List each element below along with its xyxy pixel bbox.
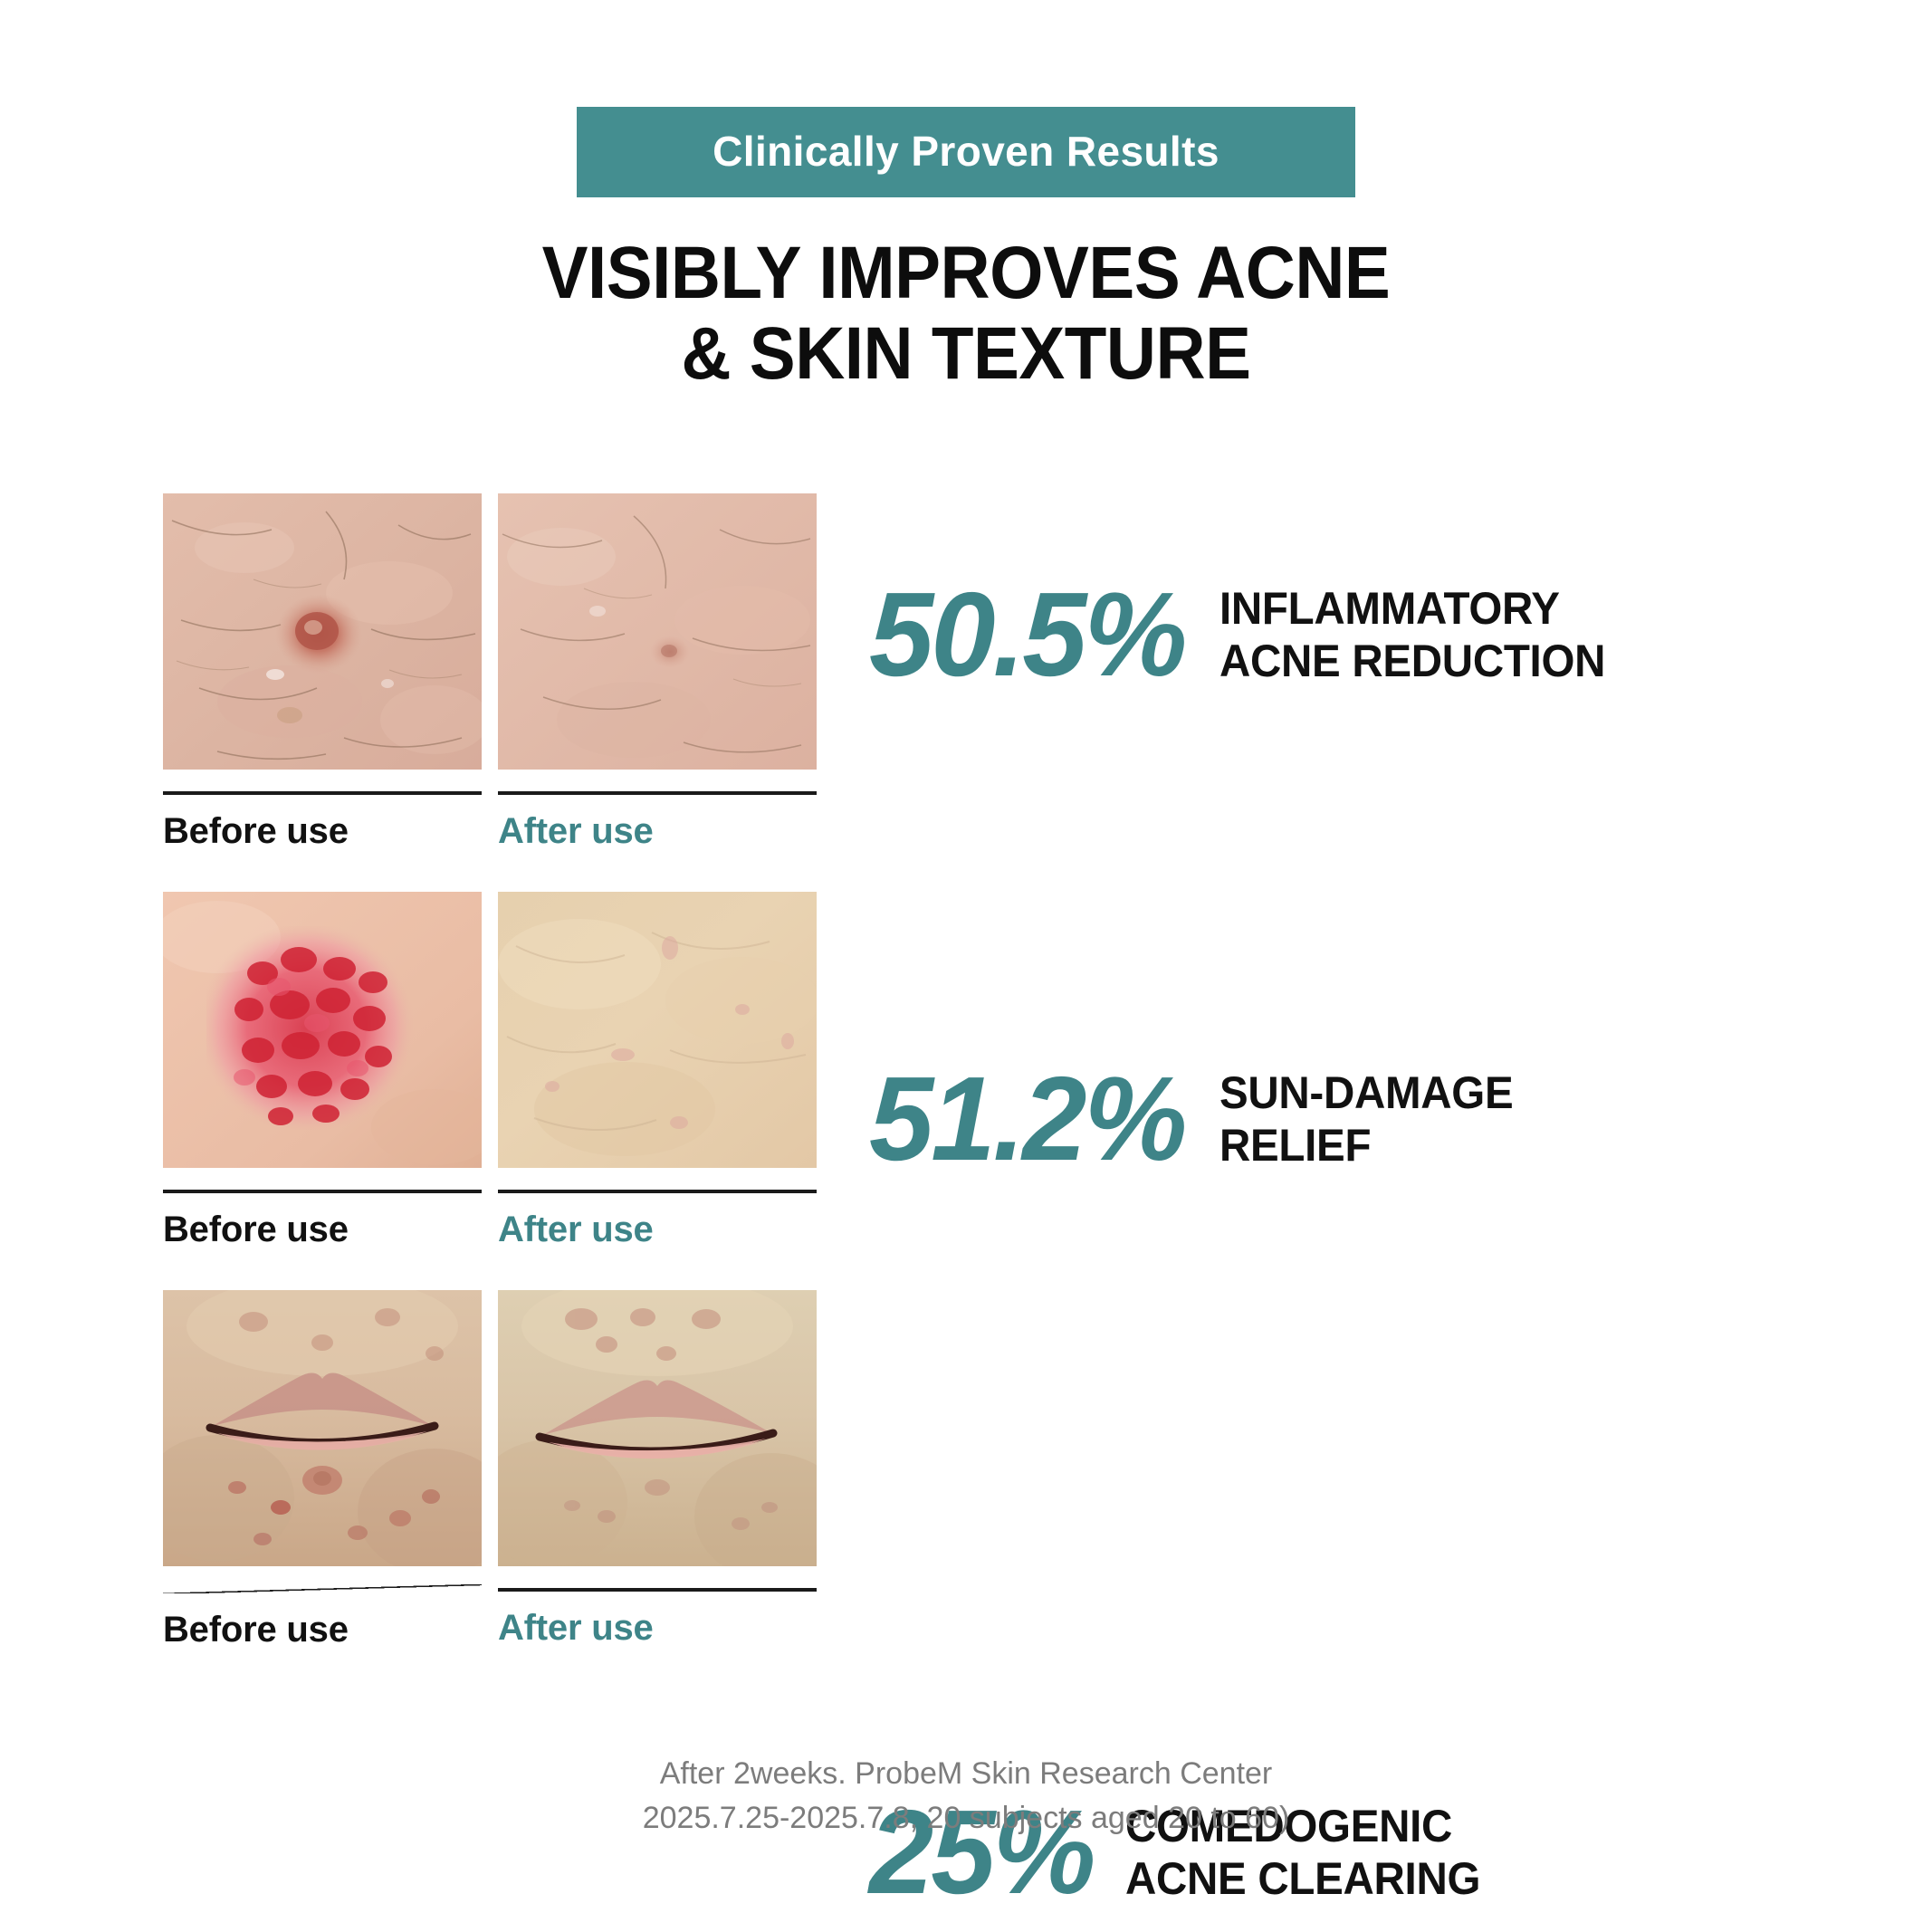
photo-pair: Before use bbox=[163, 493, 817, 849]
stat-label-line-2: ACNE CLEARING bbox=[1125, 1852, 1480, 1905]
mouth-chin-cleared-after bbox=[498, 1290, 817, 1566]
caption-rule bbox=[163, 791, 482, 795]
headline-line-2: & SKIN TEXTURE bbox=[68, 314, 1865, 395]
skin-closeup-clear-after bbox=[498, 493, 817, 770]
skin-red-irritation-patch-before bbox=[163, 892, 482, 1168]
before-caption: Before use bbox=[163, 1612, 482, 1648]
caption-rule bbox=[498, 791, 817, 795]
stat-label-line-2: RELIEF bbox=[1219, 1119, 1513, 1172]
mouth-chin-blemishes-before bbox=[163, 1290, 482, 1566]
after-block: After use bbox=[498, 892, 817, 1248]
result-row: Before use bbox=[0, 1290, 1932, 1688]
stat-block: 51.2% SUN-DAMAGE RELIEF bbox=[869, 1059, 1529, 1179]
stat-value: 50.5% bbox=[869, 575, 1185, 694]
after-caption: After use bbox=[498, 813, 817, 849]
page-title: VISIBLY IMPROVES ACNE & SKIN TEXTURE bbox=[68, 234, 1865, 394]
stat-value: 51.2% bbox=[869, 1059, 1185, 1179]
stat-label-line-2: ACNE REDUCTION bbox=[1219, 635, 1605, 687]
before-caption: Before use bbox=[163, 1211, 482, 1248]
stat-block: 50.5% INFLAMMATORY ACNE REDUCTION bbox=[869, 575, 1626, 694]
stat-label: SUN-DAMAGE RELIEF bbox=[1219, 1066, 1513, 1172]
before-block: Before use bbox=[163, 493, 482, 849]
after-caption: After use bbox=[498, 1610, 817, 1646]
after-caption: After use bbox=[498, 1211, 817, 1248]
footnote: After 2weeks. ProbeM Skin Research Cente… bbox=[0, 1752, 1932, 1841]
before-caption: Before use bbox=[163, 813, 482, 849]
after-block: After use bbox=[498, 1290, 817, 1648]
eyebrow-banner: Clinically Proven Results bbox=[577, 107, 1355, 197]
caption-rule bbox=[163, 1584, 482, 1593]
photo-pair: Before use bbox=[163, 1290, 817, 1648]
result-row: Before use bbox=[0, 493, 1932, 892]
footnote-line-1: After 2weeks. ProbeM Skin Research Cente… bbox=[0, 1752, 1932, 1796]
skin-closeup-inflamed-pimple-before bbox=[163, 493, 482, 770]
stat-label: INFLAMMATORY ACNE REDUCTION bbox=[1219, 582, 1605, 687]
skin-calm-even-tone-after bbox=[498, 892, 817, 1168]
caption-rule bbox=[163, 1190, 482, 1193]
stat-label-line-1: SUN-DAMAGE bbox=[1219, 1066, 1513, 1119]
after-block: After use bbox=[498, 493, 817, 849]
results-rows: Before use bbox=[0, 493, 1932, 1688]
headline-line-1: VISIBLY IMPROVES ACNE bbox=[68, 234, 1865, 314]
photo-pair: Before use bbox=[163, 892, 817, 1248]
header: Clinically Proven Results VISIBLY IMPROV… bbox=[0, 0, 1932, 394]
result-row: Before use bbox=[0, 892, 1932, 1290]
caption-rule bbox=[498, 1588, 817, 1592]
caption-rule bbox=[498, 1190, 817, 1193]
stat-label-line-1: INFLAMMATORY bbox=[1219, 582, 1605, 635]
before-block: Before use bbox=[163, 892, 482, 1248]
footnote-line-2: 2025.7.25-2025.7.8, 20 subjects aged 20 … bbox=[0, 1796, 1932, 1841]
before-block: Before use bbox=[163, 1290, 482, 1648]
